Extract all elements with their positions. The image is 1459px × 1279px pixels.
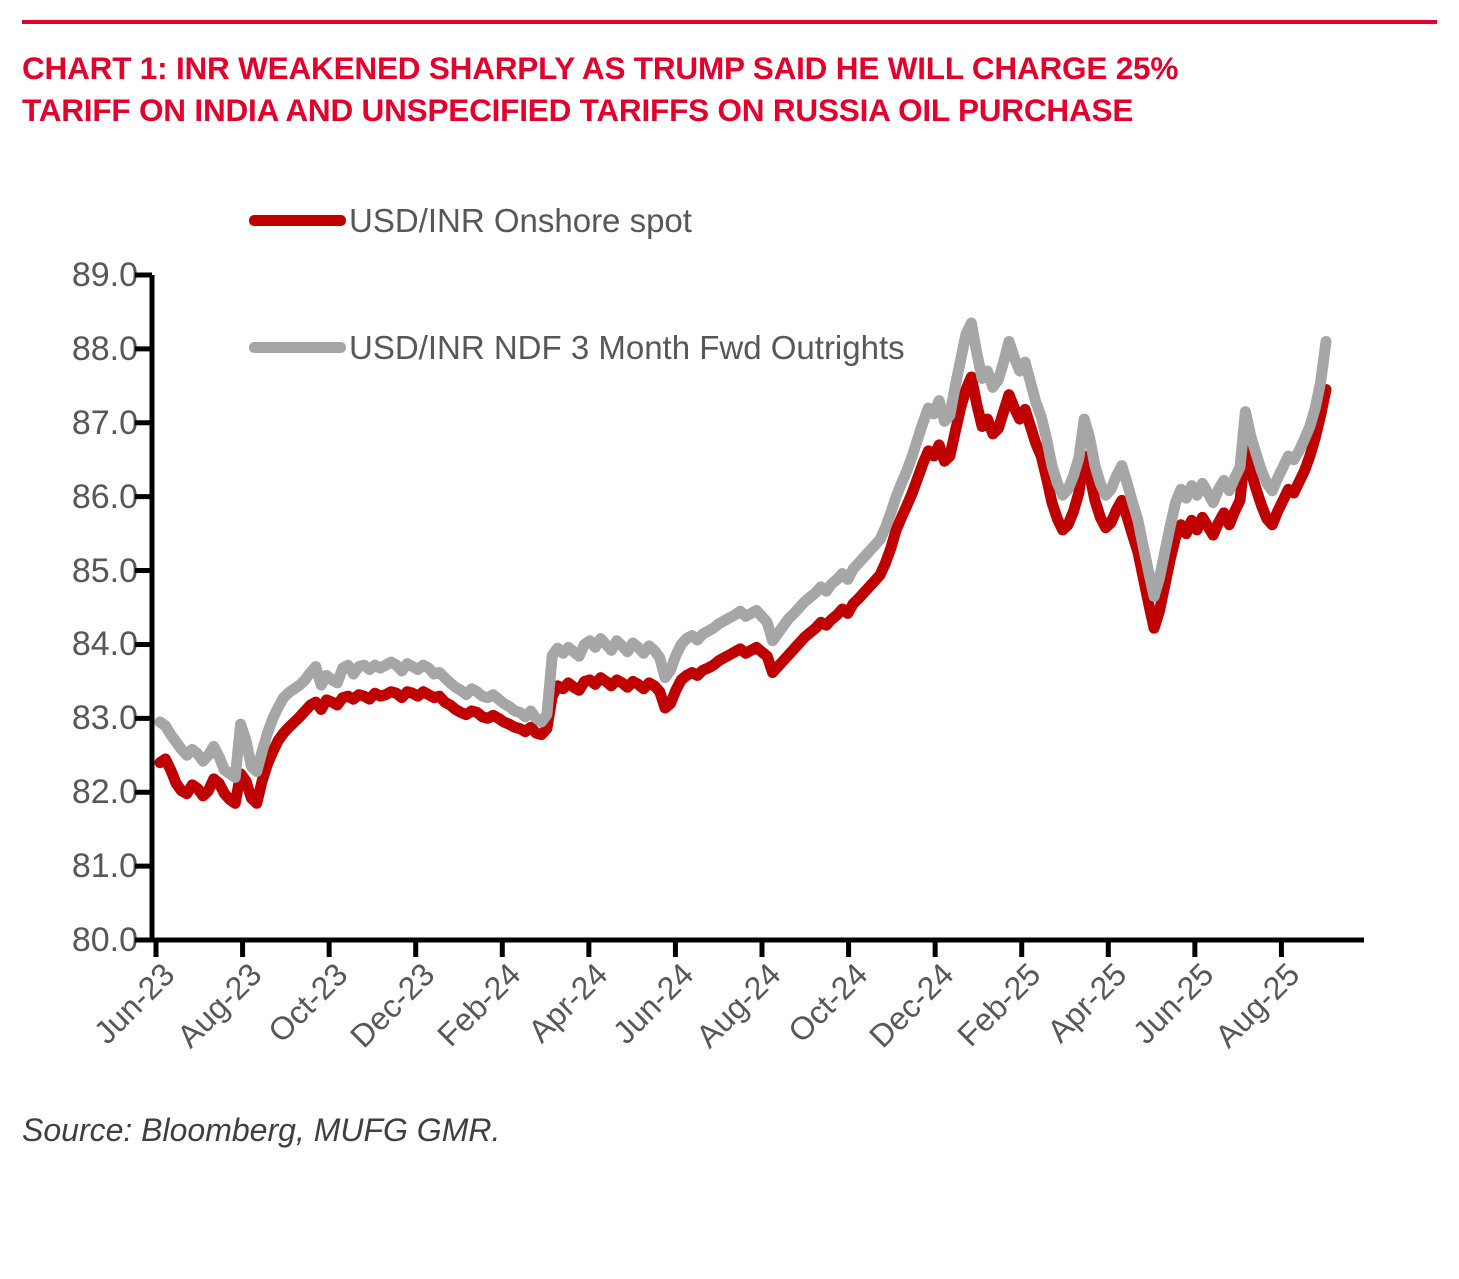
source-note: Source: Bloomberg, MUFG GMR. xyxy=(22,1112,500,1149)
series-layer xyxy=(160,323,1326,803)
chart-plot-area xyxy=(0,0,1459,1179)
